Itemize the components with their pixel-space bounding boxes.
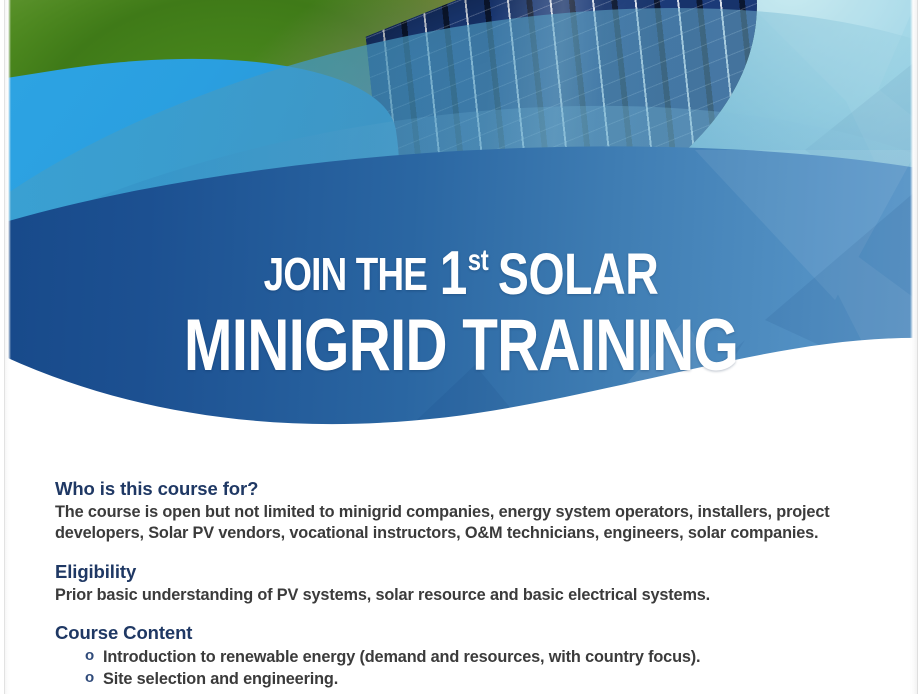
bullet-marker: o	[85, 668, 94, 688]
eligibility-heading: Eligibility	[55, 561, 881, 582]
audience-body: The course is open but not limited to mi…	[55, 502, 881, 544]
banner-headline: JOIN THE1stSOLAR MINIGRID TRAINING	[5, 243, 917, 383]
list-item: o Site selection and engineering.	[85, 668, 881, 690]
list-item-label: Introduction to renewable energy (demand…	[103, 648, 700, 666]
headline-ordinal-suffix: st	[468, 244, 489, 277]
course-content-heading: Course Content	[55, 622, 881, 643]
headline-line-2: MINIGRID TRAINING	[96, 309, 826, 383]
flyer-body-content: Who is this course for? The course is op…	[55, 478, 881, 691]
list-item-label: Site selection and engineering.	[103, 670, 338, 688]
eligibility-body: Prior basic understanding of PV systems,…	[55, 585, 881, 606]
list-item: o Introduction to renewable energy (dema…	[85, 646, 881, 668]
document-page: JOIN THE1stSOLAR MINIGRID TRAINING Who i…	[0, 0, 921, 694]
audience-heading: Who is this course for?	[55, 478, 881, 499]
course-content-list: o Introduction to renewable energy (dema…	[55, 646, 881, 690]
bullet-marker: o	[85, 646, 94, 666]
headline-solar: SOLAR	[498, 242, 658, 307]
headline-join-the: JOIN THE	[264, 248, 427, 300]
hero-banner: JOIN THE1stSOLAR MINIGRID TRAINING	[5, 0, 917, 452]
headline-ordinal-number: 1	[440, 239, 467, 308]
headline-line-1: JOIN THE1stSOLAR	[96, 243, 826, 305]
